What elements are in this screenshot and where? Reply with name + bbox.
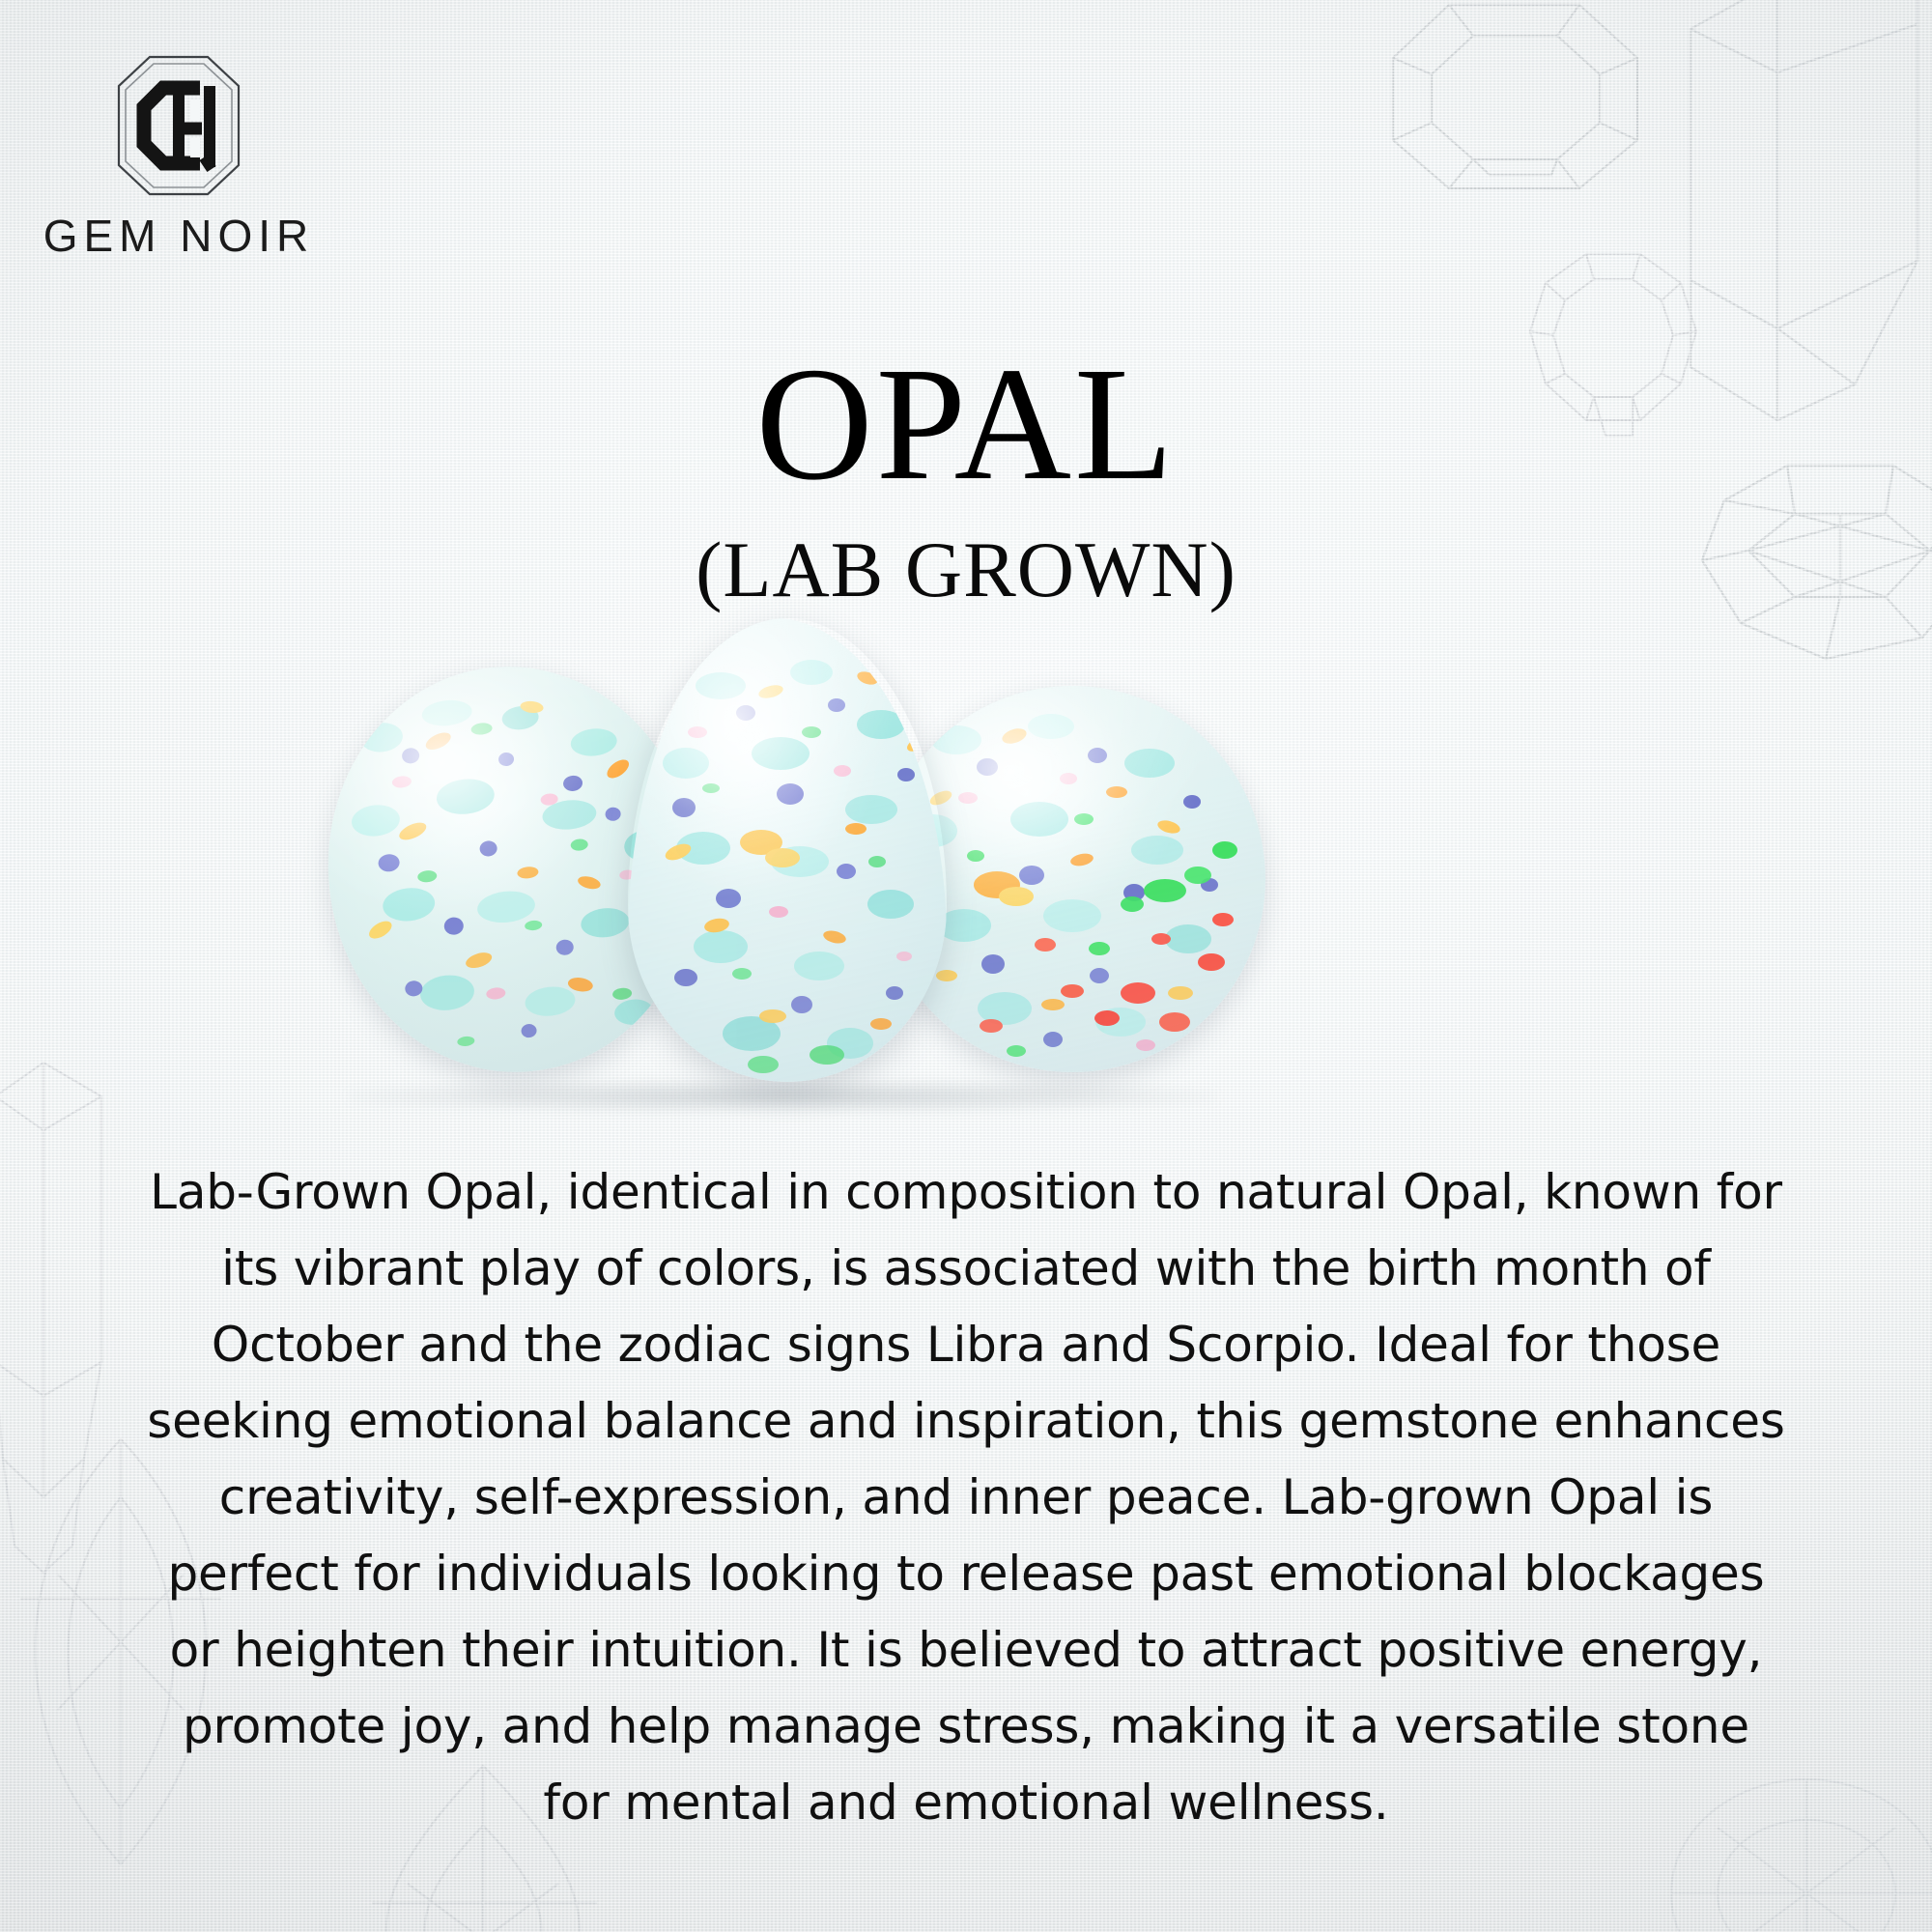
gemstone-info-poster: GEM NOIR OPAL (LAB GROWN) (0, 0, 1932, 1932)
gem-monogram-icon (115, 53, 242, 198)
gemstone-cluster-shadow (348, 1080, 1217, 1113)
brand-wordmark: GEM NOIR (39, 210, 319, 262)
headline-block: OPAL (LAB GROWN) (0, 343, 1932, 610)
page-title: OPAL (0, 343, 1932, 505)
brand-logo[interactable]: GEM NOIR (39, 53, 319, 262)
opal-pear-center (628, 618, 947, 1082)
page-subtitle: (LAB GROWN) (0, 530, 1932, 610)
gemstone-cluster (290, 618, 1642, 1140)
gemstone-description: Lab-Grown Opal, identical in composition… (145, 1154, 1787, 1841)
watermark-emerald-cut-top-right (1381, 0, 1652, 208)
